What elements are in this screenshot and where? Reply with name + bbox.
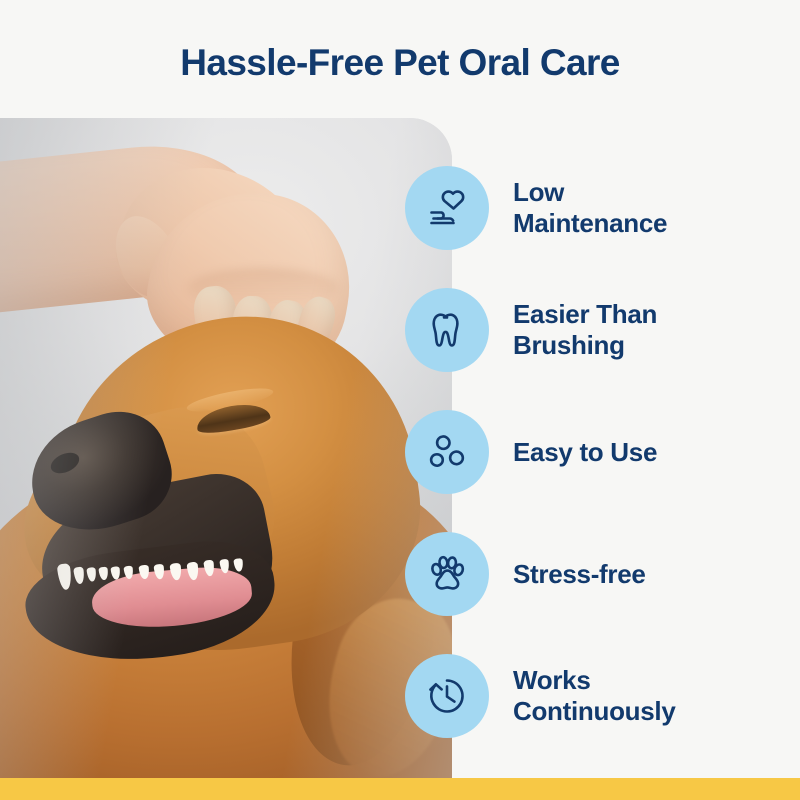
- feature-label: Works Continuously: [513, 665, 676, 727]
- hand-holding-heart-icon: [405, 166, 489, 250]
- feature-item-low-maintenance: Low Maintenance: [405, 166, 800, 250]
- paw-print-icon: [405, 532, 489, 616]
- feature-item-stress-free: Stress-free: [405, 532, 800, 616]
- feature-item-easy-to-use: Easy to Use: [405, 410, 800, 494]
- feature-label: Easy to Use: [513, 437, 657, 468]
- granules-icon: [405, 410, 489, 494]
- tooth-icon: [405, 288, 489, 372]
- feature-item-works-continuously: Works Continuously: [405, 654, 800, 738]
- feature-item-easier-than-brushing: Easier Than Brushing: [405, 288, 800, 372]
- promo-graphic: Hassle-Free Pet Oral Care: [0, 0, 800, 800]
- bottom-accent-bar: [0, 778, 800, 800]
- page-title: Hassle-Free Pet Oral Care: [0, 40, 800, 86]
- feature-label: Easier Than Brushing: [513, 299, 657, 361]
- feature-label: Low Maintenance: [513, 177, 667, 239]
- feature-label: Stress-free: [513, 559, 646, 590]
- feature-list: Low Maintenance Easier Than Brushing Eas…: [0, 118, 800, 778]
- clock-arrow-icon: [405, 654, 489, 738]
